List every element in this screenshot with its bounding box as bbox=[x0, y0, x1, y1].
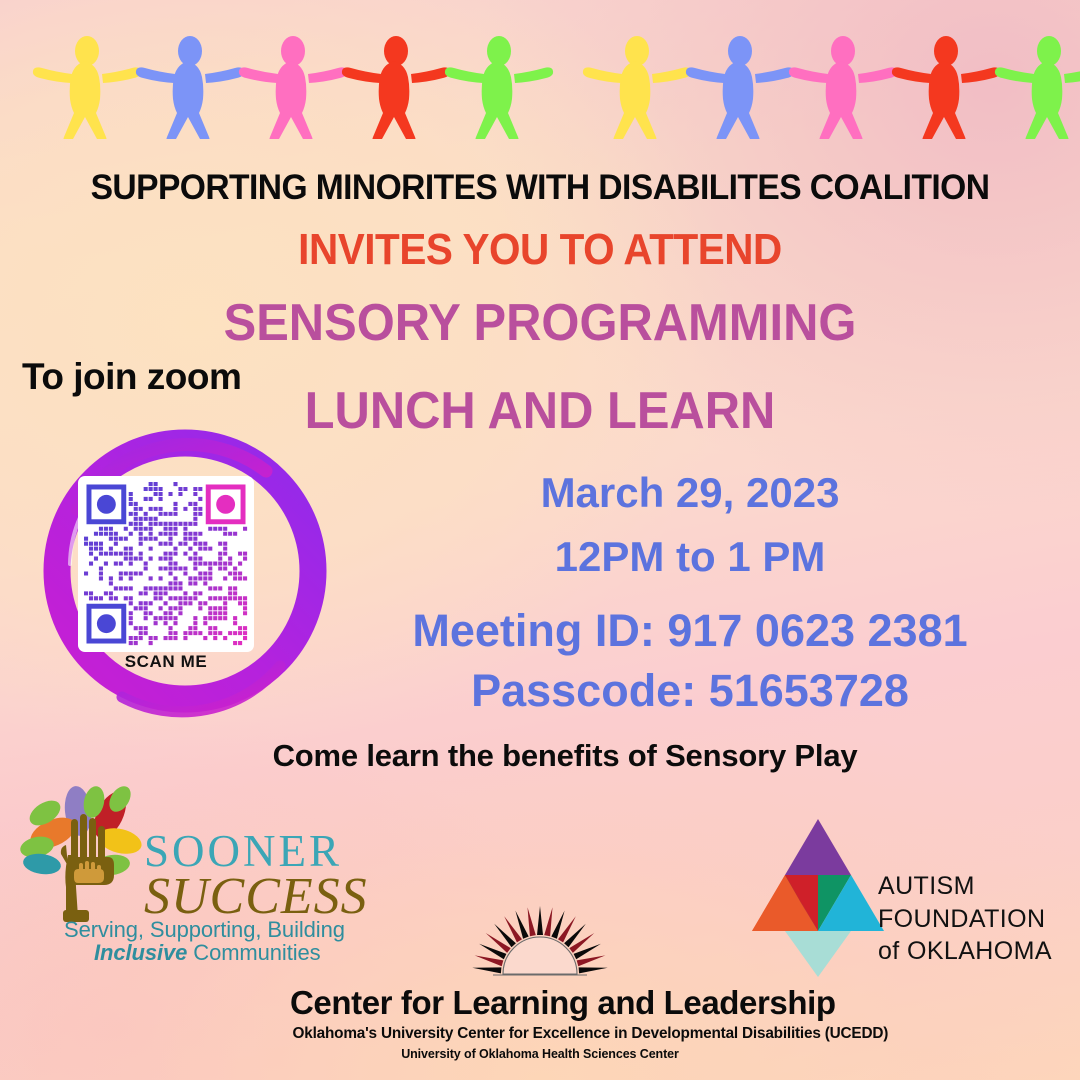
afo-line-3-prefix: of bbox=[878, 937, 907, 965]
cll-subtitle-1: Oklahoma's University Center for Excelle… bbox=[293, 1025, 788, 1043]
cll-subtitle-2: University of Oklahoma Health Sciences C… bbox=[290, 1047, 790, 1061]
paper-doll-figure bbox=[440, 34, 558, 139]
paper-doll-figure bbox=[28, 34, 146, 139]
afo-line-2: FOUNDATION bbox=[878, 903, 1052, 936]
afo-line-3: of OKLAHOMA bbox=[878, 935, 1052, 968]
qr-code-matrix-icon[interactable] bbox=[84, 482, 248, 646]
qr-code-block[interactable]: SCAN ME bbox=[30, 414, 340, 724]
hand-tree-icon bbox=[16, 785, 151, 925]
paper-doll-figure bbox=[990, 34, 1080, 139]
sooner-tagline-line-2: Inclusive Communities bbox=[94, 940, 321, 966]
paper-doll-figure bbox=[887, 34, 1005, 139]
zoom-meeting-id: Meeting ID: 917 0623 2381 bbox=[300, 608, 1080, 653]
sooner-tagline-italic: Inclusive bbox=[94, 940, 187, 965]
event-title-line-1: SENSORY PROGRAMMING bbox=[32, 297, 1047, 349]
event-time: 12PM to 1 PM bbox=[300, 536, 1080, 578]
invitation-line: INVITES YOU TO ATTEND bbox=[43, 228, 1037, 272]
paper-doll-figure bbox=[337, 34, 455, 139]
zoom-passcode: Passcode: 51653728 bbox=[300, 668, 1080, 713]
scan-me-caption: SCAN ME bbox=[78, 652, 254, 672]
paper-doll-people-row bbox=[0, 34, 1080, 144]
afo-line-3-state: OKLAHOMA bbox=[907, 937, 1052, 965]
afo-wordmark: AUTISM FOUNDATION of OKLAHOMA bbox=[878, 870, 1052, 968]
paper-doll-figure bbox=[784, 34, 902, 139]
paper-doll-figure bbox=[681, 34, 799, 139]
cll-title: Center for Learning and Leadership bbox=[290, 984, 790, 1022]
paper-doll-figure bbox=[234, 34, 352, 139]
afo-line-1: AUTISM bbox=[878, 870, 1052, 903]
triangle-star-icon bbox=[748, 815, 888, 980]
sunburst-icon bbox=[465, 900, 615, 982]
autism-foundation-of-oklahoma-logo: AUTISM FOUNDATION of OKLAHOMA bbox=[748, 815, 1068, 990]
event-date: March 29, 2023 bbox=[300, 472, 1080, 514]
flyer-canvas: SUPPORTING MINORITES WITH DISABILITES CO… bbox=[0, 0, 1080, 1080]
join-zoom-label: To join zoom bbox=[22, 356, 241, 398]
paper-doll-figure bbox=[131, 34, 249, 139]
organization-name: SUPPORTING MINORITES WITH DISABILITES CO… bbox=[22, 170, 1059, 205]
center-for-learning-and-leadership-logo: Center for Learning and Leadership Oklah… bbox=[290, 900, 790, 1065]
paper-doll-figure bbox=[578, 34, 696, 139]
event-tagline: Come learn the benefits of Sensory Play bbox=[150, 738, 980, 774]
qr-code-card[interactable] bbox=[78, 476, 254, 652]
